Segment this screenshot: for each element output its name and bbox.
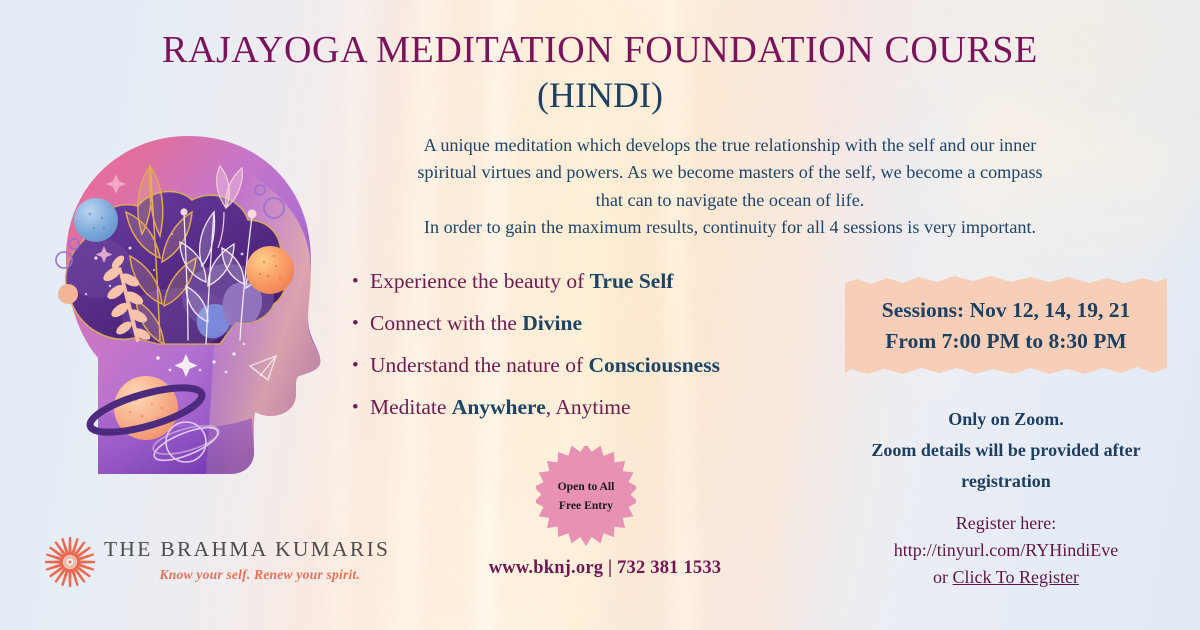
poster-canvas: RAJAYOGA MEDITATION FOUNDATION COURSE (H… [0, 0, 1200, 630]
registration-block: Register here: http://tinyurl.com/RYHind… [830, 510, 1182, 591]
register-heading: Register here: [830, 510, 1182, 537]
title-language-text: (HINDI) [0, 74, 1200, 117]
list-item: • Meditate Anywhere, Anytime [352, 394, 852, 421]
badge-line-2: Free Entry [559, 496, 613, 515]
logo-text-group: THE BRAHMA KUMARIS Know your self. Renew… [104, 537, 362, 583]
bullet-dot-icon: • [352, 314, 370, 333]
logo-tagline: Know your self. Renew your spirit. [104, 567, 362, 583]
register-link-row: or Click To Register [830, 564, 1182, 591]
list-item: • Connect with the Divine [352, 310, 852, 337]
zoom-platform-line: Only on Zoom. [828, 404, 1184, 435]
bullet-dot-icon: • [352, 398, 370, 417]
badge-label: Open to All Free Entry [536, 446, 636, 546]
sessions-text: Sessions: Nov 12, 14, 19, 21 From 7:00 P… [845, 274, 1167, 378]
list-item-plain: Understand the nature of [370, 353, 589, 377]
click-to-register-link[interactable]: Click To Register [953, 567, 1079, 587]
list-item-plain: Connect with the [370, 311, 522, 335]
list-item: • Experience the beauty of True Self [352, 268, 852, 295]
badge-line-1: Open to All [558, 477, 615, 496]
intro-line-4: In order to gain the maximum results, co… [348, 214, 1112, 241]
title-main-text: RAJAYOGA MEDITATION FOUNDATION COURSE [0, 28, 1200, 73]
bullet-dot-icon: • [352, 272, 370, 291]
zoom-details-line: Zoom details will be provided after [828, 435, 1184, 466]
meditating-head-illustration [38, 108, 344, 512]
page-title: RAJAYOGA MEDITATION FOUNDATION COURSE (H… [0, 28, 1200, 117]
sunburst-icon [42, 534, 98, 590]
register-link-prefix: or [933, 567, 953, 587]
list-item-plain: Experience the beauty of [370, 269, 590, 293]
list-item-highlight: Consciousness [589, 353, 720, 377]
list-item-label: Connect with the Divine [370, 310, 582, 337]
bullet-dot-icon: • [352, 356, 370, 375]
intro-line-2: spiritual virtues and powers. As we beco… [348, 159, 1112, 186]
list-item-label: Meditate Anywhere, Anytime [370, 394, 631, 421]
register-url[interactable]: http://tinyurl.com/RYHindiEve [830, 537, 1182, 564]
list-item-tail: , Anytime [546, 395, 631, 419]
zoom-details: Only on Zoom. Zoom details will be provi… [828, 404, 1184, 497]
list-item-plain: Meditate [370, 395, 452, 419]
sessions-callout: Sessions: Nov 12, 14, 19, 21 From 7:00 P… [845, 274, 1167, 378]
brahma-kumaris-logo: THE BRAHMA KUMARIS Know your self. Renew… [42, 532, 362, 594]
list-item-highlight: Anywhere [452, 395, 546, 419]
sessions-time: From 7:00 PM to 8:30 PM [885, 326, 1126, 357]
list-item-highlight: Divine [522, 311, 582, 335]
intro-line-1: A unique meditation which develops the t… [348, 132, 1112, 159]
list-item-label: Experience the beauty of True Self [370, 268, 673, 295]
benefits-list: • Experience the beauty of True Self • C… [352, 268, 852, 436]
intro-paragraph: A unique meditation which develops the t… [348, 132, 1112, 241]
free-entry-badge: Open to All Free Entry [536, 446, 636, 546]
logo-name: THE BRAHMA KUMARIS [104, 537, 362, 562]
list-item-highlight: True Self [590, 269, 674, 293]
contact-line[interactable]: www.bknj.org | 732 381 1533 [440, 558, 770, 579]
zoom-registration-line: registration [828, 466, 1184, 497]
list-item-label: Understand the nature of Consciousness [370, 352, 720, 379]
intro-line-3: that can to navigate the ocean of life. [348, 187, 1112, 214]
sessions-dates: Sessions: Nov 12, 14, 19, 21 [882, 295, 1130, 326]
list-item: • Understand the nature of Consciousness [352, 352, 852, 379]
